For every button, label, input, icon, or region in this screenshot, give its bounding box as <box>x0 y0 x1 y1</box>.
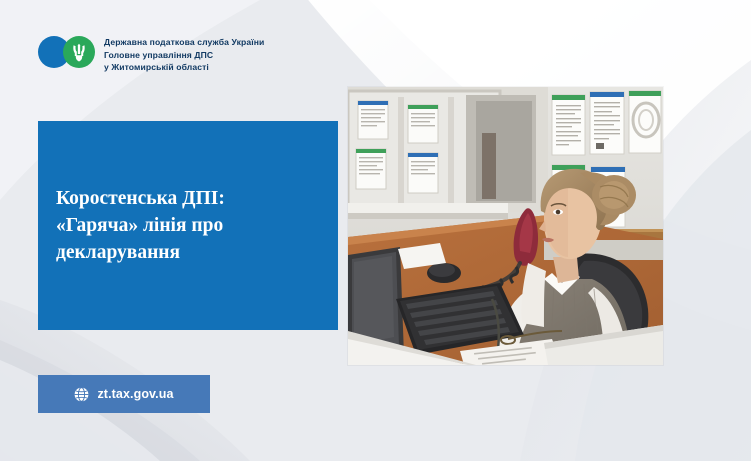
organization-name: Державна податкова служба України Головн… <box>104 32 264 73</box>
banner-canvas: Державна податкова служба України Головн… <box>0 0 751 461</box>
org-line-1: Державна податкова служба України <box>104 36 264 48</box>
headline-panel: Коростенська ДПІ: «Гаряча» лінія про дек… <box>38 121 338 330</box>
logo-marks <box>38 32 94 72</box>
website-url-badge[interactable]: zt.tax.gov.ua <box>38 375 210 413</box>
globe-icon <box>74 387 89 402</box>
organization-logo-block: Державна податкова служба України Головн… <box>38 32 264 73</box>
headline-title: Коростенська ДПІ: «Гаряча» лінія про дек… <box>38 185 225 266</box>
website-url-label: zt.tax.gov.ua <box>97 387 173 401</box>
office-photo <box>348 87 663 365</box>
org-line-2: Головне управління ДПС <box>104 50 264 62</box>
ukraine-trident-icon <box>71 43 87 62</box>
green-circle-icon <box>63 36 95 68</box>
org-line-3: у Житомирській області <box>104 62 264 74</box>
office-photo-illustration <box>348 87 663 365</box>
